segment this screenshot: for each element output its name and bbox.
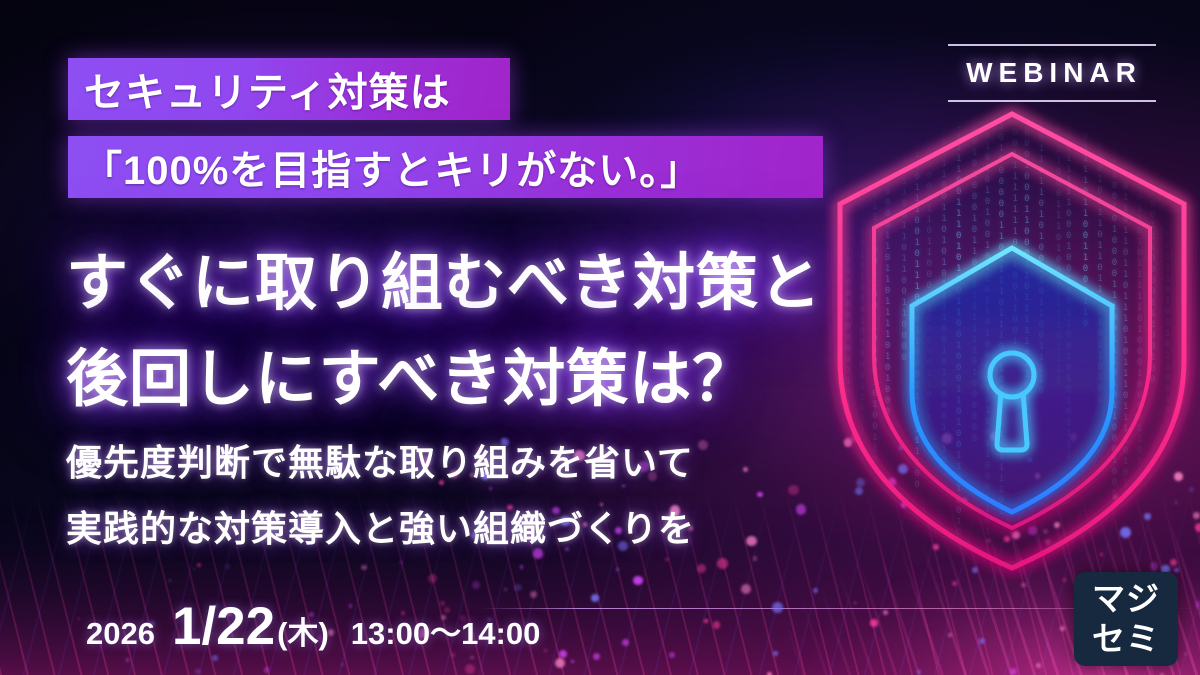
cyan-shield [912,248,1112,512]
highlight-text-1: セキュリティ対策は [84,60,451,118]
schedule-day-of-week: (木) [277,608,329,653]
webinar-banner: 0 1 1 1 1 1 1 0 1 1 1 0 0 1 1 0 1 1 1 0 … [0,0,1200,675]
bokeh-dot [773,651,778,656]
bokeh-dot [1036,663,1041,668]
bokeh-dot [465,664,475,674]
webinar-badge: WEBINAR [948,44,1156,102]
bokeh-dot [796,504,806,514]
bokeh-dot [883,610,888,615]
webinar-rule-bottom [948,100,1156,102]
bokeh-dot [361,565,366,570]
highlight-text-2: 「100%を目指すとキリがない。」 [82,138,701,196]
highlight-bar-1: セキュリティ対策は [68,58,510,120]
bokeh-dot [520,565,523,568]
headline-line-2: 後回しにすべき対策は？ [66,328,755,418]
webinar-label: WEBINAR [948,46,1156,100]
bokeh-dot [428,574,437,583]
bokeh-dot [622,639,629,646]
subtitle-line-1: 優先度判断で無駄な取り組みを省いて [66,434,694,486]
bokeh-dot [743,467,748,472]
bokeh-dot [399,561,403,565]
logo-line-1: マジ [1092,579,1160,619]
bokeh-dot [665,558,669,562]
bokeh-dot [616,568,618,570]
bokeh-dot [633,576,642,585]
schedule-month-day: 1/22 [172,596,275,657]
bokeh-dot [717,558,728,569]
bokeh-dot [713,621,721,629]
schedule-year: 2026 [86,616,155,652]
schedule: 2026 1/22 (木) 13:00〜14:00 [86,596,540,657]
bokeh-dot [197,563,201,567]
bokeh-dot [704,619,708,623]
bokeh-dot [870,619,878,627]
bokeh-dot [169,579,171,581]
bokeh-dot [757,492,763,498]
subtitle-line-2: 実践的な対策導入と強い組織づくりを [66,500,695,552]
bokeh-dot [593,653,600,660]
bokeh-dot [772,602,783,613]
shield-graphic [812,92,1200,592]
highlight-bar-2: 「100%を目指すとキリがない。」 [68,136,823,198]
bokeh-dot [1010,668,1017,675]
bokeh-dot [746,536,756,546]
logo-line-2: セミ [1092,619,1160,659]
bokeh-dot [514,584,521,591]
bokeh-dot [753,556,757,560]
bokeh-dot [126,658,129,661]
bokeh-dot [504,588,507,591]
bokeh-dot [854,602,856,604]
bokeh-dot [225,564,230,569]
schedule-time-range: 13:00〜14:00 [351,608,541,653]
bokeh-dot [571,660,574,663]
headline-line-1: すぐに取り組むべき対策と [66,232,822,322]
majisemi-logo: マジ セミ [1074,572,1178,666]
bokeh-dot [979,638,985,644]
